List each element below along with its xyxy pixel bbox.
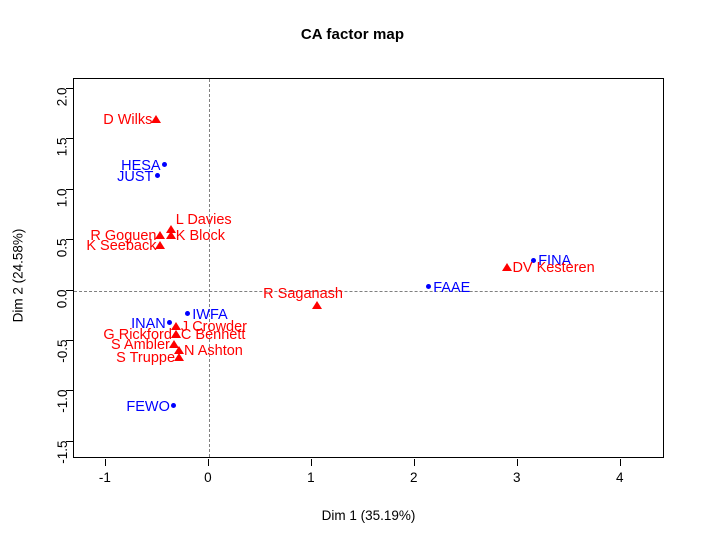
- chart-title: CA factor map: [0, 26, 705, 43]
- point-label: K Block: [176, 229, 225, 244]
- y-axis-title: Dim 2 (24.58%): [11, 176, 26, 376]
- x-axis-title: Dim 1 (35.19%): [73, 508, 664, 523]
- point-label: N Ashton: [184, 344, 243, 359]
- y-tick-label: 2.0: [55, 88, 70, 107]
- y-tick-label: -1.0: [55, 390, 70, 413]
- y-tick-label: 0.5: [55, 239, 70, 258]
- point-triangle-icon: [312, 301, 322, 309]
- vertical-reference-line: [209, 79, 210, 457]
- point-label: JUST: [117, 170, 153, 185]
- point-triangle-icon: [174, 353, 184, 361]
- x-tick-label: 2: [384, 470, 444, 485]
- y-tick-label: 1.5: [55, 138, 70, 157]
- point-label: FAAE: [433, 281, 470, 296]
- point-dot-icon: [185, 311, 190, 316]
- x-tick-mark: [620, 459, 621, 466]
- point-triangle-icon: [171, 330, 181, 338]
- ca-factor-map-figure: CA factor map Dim 2 (24.58%) Dim 1 (35.1…: [0, 0, 705, 551]
- point-label: L Davies: [176, 213, 232, 228]
- point-label: FEWO: [126, 400, 170, 415]
- point-label: R Saganash: [263, 287, 343, 302]
- point-triangle-icon: [166, 231, 176, 239]
- y-tick-label: 0.0: [55, 289, 70, 308]
- horizontal-reference-line: [74, 291, 663, 292]
- point-label: C Bennett: [181, 328, 246, 343]
- point-triangle-icon: [155, 241, 165, 249]
- point-triangle-icon: [502, 263, 512, 271]
- x-tick-label: 1: [281, 470, 341, 485]
- point-triangle-icon: [171, 322, 181, 330]
- point-triangle-icon: [155, 231, 165, 239]
- x-tick-mark: [208, 459, 209, 466]
- plot-area: HESAJUSTFINAFAAEIWFAINANFEWOD WilksL Dav…: [73, 78, 664, 458]
- x-tick-label: 3: [487, 470, 547, 485]
- point-dot-icon: [426, 284, 431, 289]
- point-dot-icon: [171, 403, 176, 408]
- x-tick-mark: [414, 459, 415, 466]
- y-tick-label: -1.5: [55, 440, 70, 463]
- point-label: D Wilks: [103, 113, 152, 128]
- point-triangle-icon: [151, 115, 161, 123]
- point-label: K Seeback: [86, 239, 156, 254]
- x-tick-label: 4: [590, 470, 650, 485]
- point-label: DV Kesteren: [512, 261, 594, 276]
- y-tick-label: -0.5: [55, 340, 70, 363]
- x-tick-label: -1: [75, 470, 135, 485]
- point-dot-icon: [162, 162, 167, 167]
- x-tick-mark: [311, 459, 312, 466]
- y-tick-label: 1.0: [55, 188, 70, 207]
- x-tick-mark: [105, 459, 106, 466]
- x-tick-mark: [517, 459, 518, 466]
- point-label: S Truppe: [116, 351, 175, 366]
- point-dot-icon: [155, 173, 160, 178]
- x-tick-label: 0: [178, 470, 238, 485]
